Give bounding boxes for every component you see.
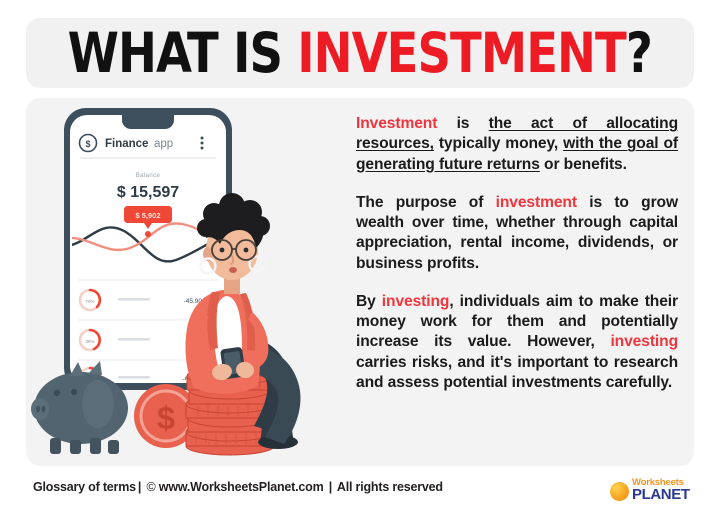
text-run: By [356, 293, 382, 310]
title-banner: WHAT IS INVESTMENT? [26, 18, 694, 88]
footer-website-link[interactable]: www.WorksheetsPlanet.com [159, 480, 324, 494]
paragraph-risks: By investing, individuals aim to make th… [356, 292, 678, 393]
footer-credits: Glossary of terms| © www.WorksheetsPlane… [33, 480, 443, 494]
svg-text:app: app [154, 138, 173, 150]
svg-text:$ 15,597: $ 15,597 [117, 184, 179, 201]
definition-text-column: Investment is the act of allocating reso… [356, 114, 678, 454]
text-run: typically money, [434, 135, 563, 152]
svg-text:Finance: Finance [105, 138, 148, 150]
svg-text:$: $ [85, 139, 90, 149]
finance-illustration: $ Finance app Balance $ 15,597 [26, 98, 356, 466]
title-highlight: INVESTMENT [297, 21, 626, 85]
page-title: WHAT IS INVESTMENT? [68, 26, 652, 81]
svg-text:$ 5,902: $ 5,902 [135, 211, 160, 220]
planet-sphere-icon [610, 482, 629, 501]
paragraph-definition: Investment is the act of allocating reso… [356, 114, 678, 175]
svg-text:38%: 38% [85, 339, 94, 344]
title-part-1: WHAT IS [68, 21, 298, 85]
text-run: carries risks, and it's important to res… [356, 354, 678, 391]
footer: Glossary of terms| © www.WorksheetsPlane… [0, 472, 720, 509]
footer-separator: | [329, 480, 332, 494]
svg-text:70%: 70% [85, 299, 94, 304]
logo-wordmark: Worksheets PLANET [632, 478, 690, 502]
copyright-icon: © [147, 480, 156, 494]
svg-text:$: $ [157, 400, 175, 436]
infographic-page: WHAT IS INVESTMENT? [0, 0, 720, 509]
paragraph-purpose: The purpose of investment is to grow wea… [356, 193, 678, 274]
term-investment: investment [496, 194, 577, 211]
term-investing: investing [610, 333, 678, 350]
logo-bottom-word: PLANET [632, 487, 690, 502]
footer-rights-label: All rights reserved [337, 480, 443, 494]
text-run: is [437, 115, 488, 132]
footer-glossary-label: Glossary of terms [33, 480, 136, 494]
worksheets-planet-logo: Worksheets PLANET [610, 475, 702, 505]
term-investing: investing [382, 293, 450, 310]
text-run: or benefits. [540, 156, 627, 173]
text-run: The purpose of [356, 194, 496, 211]
footer-separator: | [138, 480, 141, 494]
term-investment: Investment [356, 115, 437, 132]
title-question-mark: ? [626, 21, 652, 85]
content-card: $ Finance app Balance $ 15,597 [26, 98, 694, 466]
svg-text:Balance: Balance [136, 173, 161, 179]
